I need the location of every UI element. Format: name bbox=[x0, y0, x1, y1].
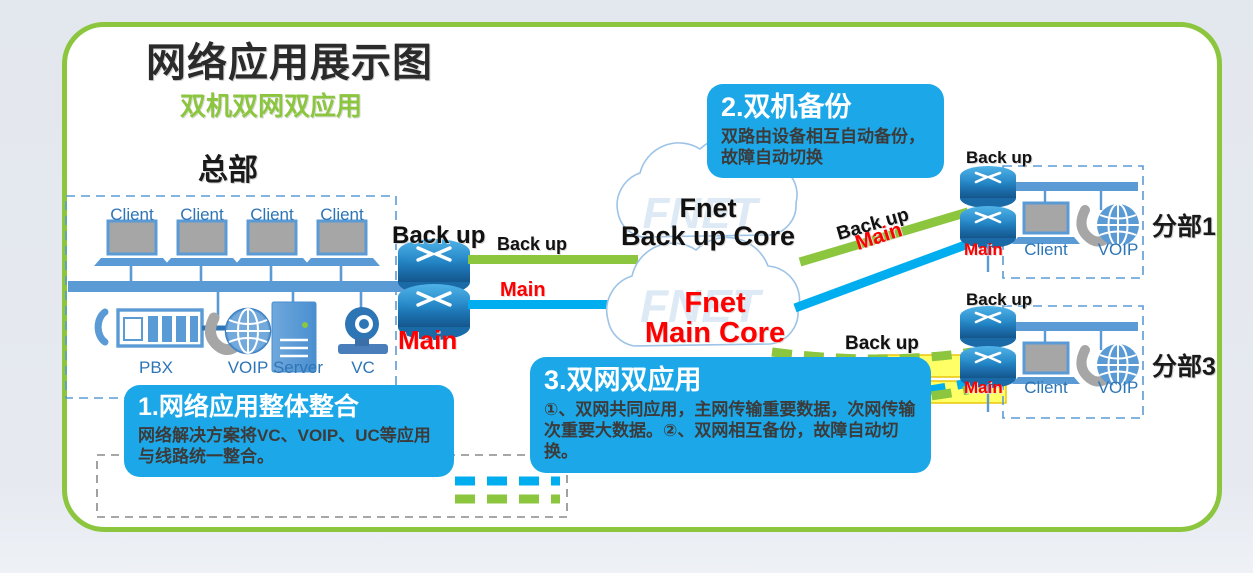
callout-3-title: 3.双网双应用 bbox=[544, 365, 917, 397]
hq-device-label-vc: VC bbox=[338, 358, 388, 377]
hq-client-label-4: Client bbox=[314, 205, 370, 224]
page-title: 网络应用展示图 bbox=[146, 30, 433, 88]
hq-router-main-label: Main bbox=[398, 325, 457, 356]
callout-2-body: 双路由设备相互自动备份，故障自动切换 bbox=[721, 126, 930, 169]
hq-trunk-main-label: Main bbox=[500, 279, 546, 302]
branch3-router-backup-label: Back up bbox=[966, 290, 1032, 310]
hq-trunk-backup-label: Back up bbox=[497, 234, 567, 255]
callout-2[interactable]: 2.双机备份 双路由设备相互自动备份，故障自动切换 bbox=[707, 84, 944, 178]
main-core-cloud-label: Fnet Main Core bbox=[610, 288, 820, 349]
headquarters-title: 总部 bbox=[198, 145, 258, 189]
branch1-voip-label: VOIP bbox=[1093, 240, 1143, 259]
hq-client-label-1: Client bbox=[104, 205, 160, 224]
branch3-backup-link-label: Back up bbox=[845, 333, 919, 355]
backup-core-cloud-label: Fnet Back up Core bbox=[588, 194, 828, 251]
branch3-router-main-label: Main bbox=[964, 378, 1003, 398]
diagram-canvas: FNET FNET bbox=[0, 0, 1253, 573]
page-subtitle: 双机双网双应用 bbox=[180, 86, 362, 123]
branch3-client-label: Client bbox=[1019, 378, 1073, 397]
callout-2-title: 2.双机备份 bbox=[721, 92, 930, 124]
hq-router-backup-label: Back up bbox=[392, 222, 485, 250]
main-core-line1: Fnet bbox=[684, 287, 745, 319]
backup-core-line2: Back up Core bbox=[621, 221, 795, 251]
callout-3[interactable]: 3.双网双应用 ①、双网共同应用，主网传输重要数据，次网传输次重要大数据。②、双… bbox=[530, 357, 931, 473]
callout-1-body: 网络解决方案将VC、VOIP、UC等应用与线路统一整合。 bbox=[138, 425, 440, 468]
hq-client-label-3: Client bbox=[244, 205, 300, 224]
callout-1[interactable]: 1.网络应用整体整合 网络解决方案将VC、VOIP、UC等应用与线路统一整合。 bbox=[124, 385, 454, 477]
branch1-title: 分部1 bbox=[1152, 207, 1216, 243]
hq-device-label-server: Server bbox=[266, 358, 330, 377]
branch3-title: 分部3 bbox=[1152, 347, 1216, 383]
branch1-router-main-label: Main bbox=[964, 240, 1003, 260]
callout-3-body: ①、双网共同应用，主网传输重要数据，次网传输次重要大数据。②、双网相互备份，故障… bbox=[544, 399, 917, 463]
branch1-router-backup-label: Back up bbox=[966, 148, 1032, 168]
callout-1-title: 1.网络应用整体整合 bbox=[138, 393, 440, 423]
branch3-voip-label: VOIP bbox=[1093, 378, 1143, 397]
hq-device-label-pbx: PBX bbox=[126, 358, 186, 377]
main-core-line2: Main Core bbox=[645, 317, 785, 349]
backup-core-line1: Fnet bbox=[680, 193, 737, 223]
hq-client-label-2: Client bbox=[174, 205, 230, 224]
branch1-client-label: Client bbox=[1019, 240, 1073, 259]
